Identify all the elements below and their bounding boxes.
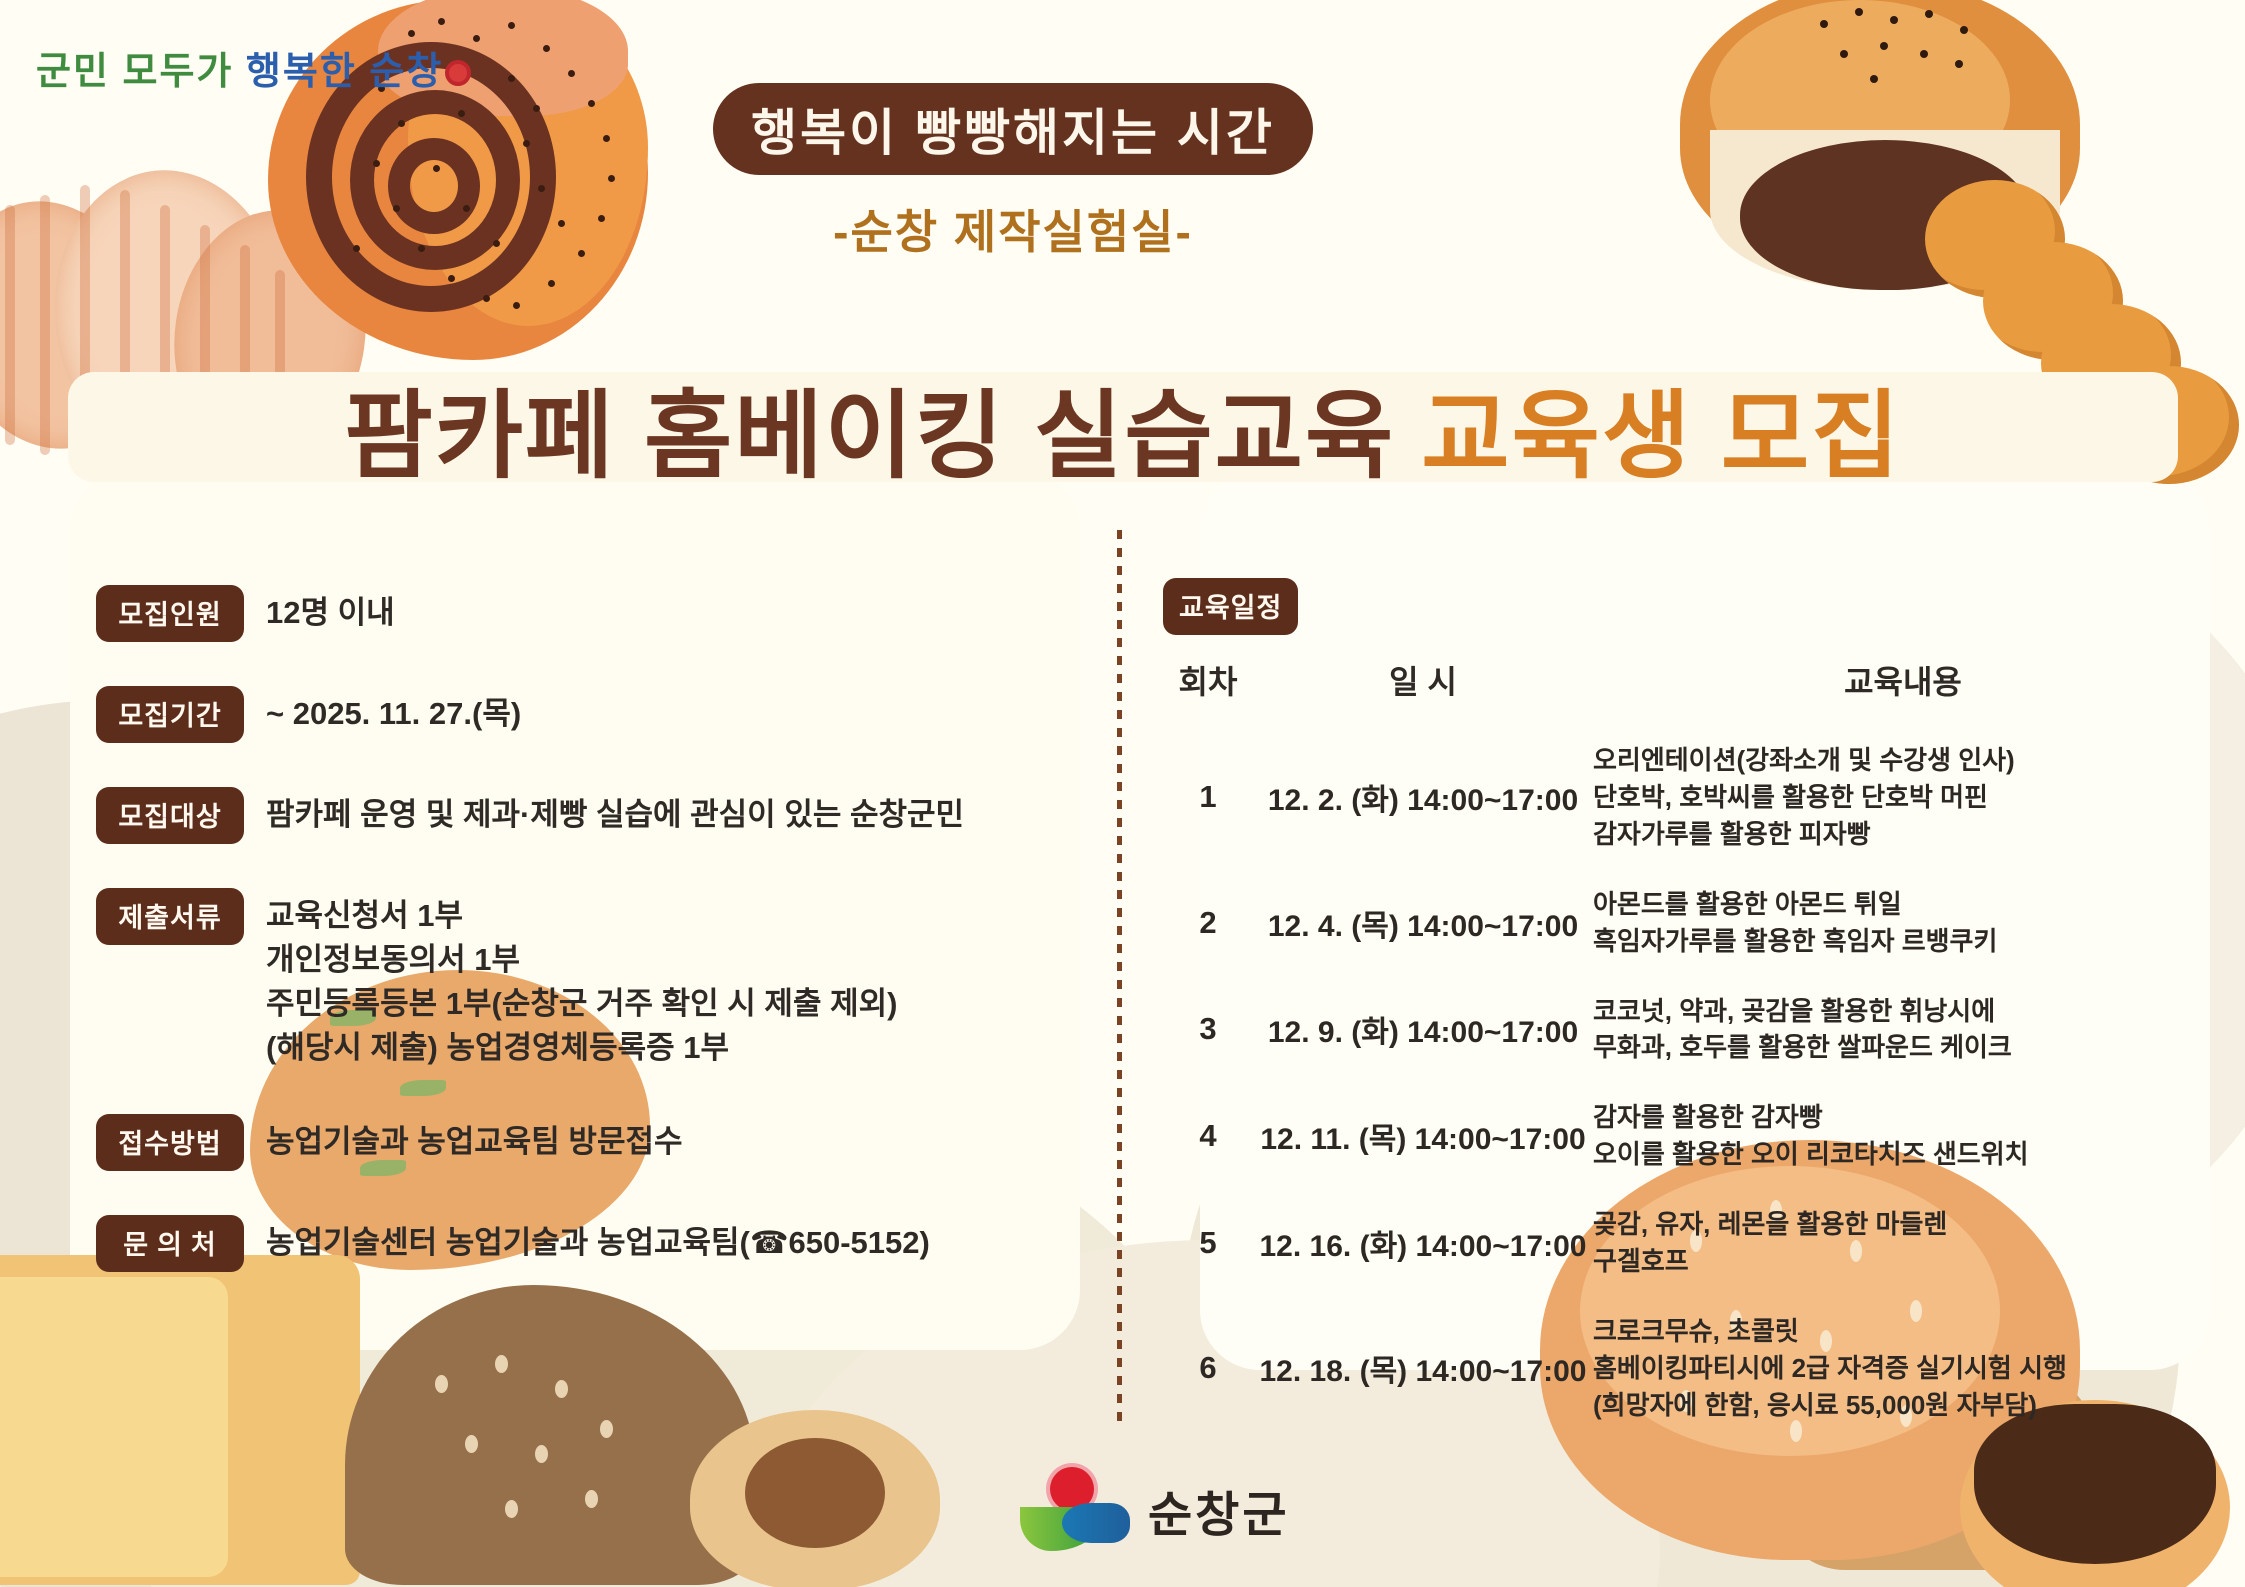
- column-header-session: 회차: [1163, 657, 1253, 729]
- session-content-line: 크로크무슈, 초콜릿: [1593, 1313, 2213, 1350]
- info-row: 모집대상팜카페 운영 및 제과·제빵 실습에 관심이 있는 순창군민: [96, 787, 1116, 844]
- info-row: 모집기간~ 2025. 11. 27.(목): [96, 686, 1116, 743]
- roll-poppyseed-dot: [418, 245, 425, 252]
- main-title-part-2: 교육생 모집: [1421, 358, 1901, 497]
- slogan-text-green: 군민 모두가: [36, 51, 233, 93]
- roll-poppyseed-dot: [463, 205, 470, 212]
- session-content-line: 흑임자가루를 활용한 흑임자 르뱅쿠키: [1593, 923, 2213, 960]
- table-row: 212. 4. (목) 14:00~17:00아몬드를 활용한 아몬드 튀일흑임…: [1163, 873, 2213, 980]
- column-header-datetime: 일 시: [1253, 657, 1593, 729]
- session-content: 코코넛, 약과, 곶감을 활용한 휘낭시에무화과, 호두를 활용한 쌀파운드 케…: [1593, 980, 2213, 1087]
- footer-branding: 순창군: [1020, 1455, 1500, 1565]
- info-value: 12명 이내: [266, 585, 395, 635]
- session-datetime: 12. 9. (화) 14:00~17:00: [1253, 980, 1593, 1087]
- session-number: 3: [1163, 980, 1253, 1087]
- roll-poppyseed-dot: [408, 30, 415, 37]
- roll-poppyseed-dot: [373, 160, 380, 167]
- table-row: 312. 9. (화) 14:00~17:00코코넛, 약과, 곶감을 활용한 …: [1163, 980, 2213, 1087]
- page-title: 팜카페 홈베이킹 실습교육 교육생 모집: [68, 370, 2178, 485]
- roll-poppyseed-dot: [538, 185, 545, 192]
- roll-poppyseed-dot: [608, 175, 615, 182]
- session-content-line: 무화과, 호두를 활용한 쌀파운드 케이크: [1593, 1029, 2213, 1066]
- session-content: 감자를 활용한 감자빵오이를 활용한 오이 리코타치즈 샌드위치: [1593, 1086, 2213, 1193]
- session-content-line: 감자가루를 활용한 피자빵: [1593, 816, 2213, 853]
- roll-poppyseed-dot: [548, 280, 555, 287]
- roll-poppyseed-dot: [543, 45, 550, 52]
- roll-poppyseed-dot: [473, 35, 480, 42]
- subtitle: -순창 제작실험실-: [713, 196, 1313, 262]
- roll-poppyseed-dot: [493, 240, 500, 247]
- session-content-line: 감자를 활용한 감자빵: [1593, 1099, 2213, 1136]
- cream-bun-illustration: [1680, 0, 2100, 310]
- info-row: 모집인원12명 이내: [96, 585, 1116, 642]
- county-slogan: 군민 모두가 행복한 순창: [36, 40, 471, 95]
- info-label: 접수방법: [96, 1114, 244, 1171]
- info-value: 팜카페 운영 및 제과·제빵 실습에 관심이 있는 순창군민: [266, 787, 964, 837]
- info-label: 모집기간: [96, 686, 244, 743]
- session-content-line: 오리엔테이션(강좌소개 및 수강생 인사): [1593, 742, 2213, 779]
- roll-poppyseed-dot: [523, 140, 530, 147]
- bun-seed: [1955, 60, 1963, 68]
- slogan-text-blue: 행복한 순창: [246, 51, 443, 93]
- bun-seed: [1925, 10, 1933, 18]
- schedule-section: 교육일정 회차 일 시 교육내용 112. 2. (화) 14:00~17:00…: [1163, 578, 2213, 1444]
- main-title-part-1: 팜카페 홈베이킹 실습교육: [344, 358, 1395, 497]
- session-content: 크로크무슈, 초콜릿홈베이킹파티시에 2급 자격증 실기시험 시행(희망자에 한…: [1593, 1300, 2213, 1444]
- session-content: 곶감, 유자, 레몬을 활용한 마들렌구겔호프: [1593, 1193, 2213, 1300]
- bun-seed: [1890, 16, 1898, 24]
- roll-poppyseed-dot: [353, 245, 360, 252]
- roll-poppyseed-dot: [393, 205, 400, 212]
- bun-seed: [1960, 26, 1968, 34]
- schedule-header-row: 회차 일 시 교육내용: [1163, 657, 2213, 729]
- roll-poppyseed-dot: [433, 165, 440, 172]
- roll-poppyseed-dot: [578, 250, 585, 257]
- schedule-table: 회차 일 시 교육내용 112. 2. (화) 14:00~17:00오리엔테이…: [1163, 657, 2213, 1444]
- session-content-line: 오이를 활용한 오이 리코타치즈 샌드위치: [1593, 1136, 2213, 1173]
- session-content-line: 구겔호프: [1593, 1243, 2213, 1280]
- session-content: 오리엔테이션(강좌소개 및 수강생 인사)단호박, 호박씨를 활용한 단호박 머…: [1593, 729, 2213, 873]
- croissant-stripe: [40, 195, 50, 455]
- session-datetime: 12. 2. (화) 14:00~17:00: [1253, 729, 1593, 873]
- roll-poppyseed-dot: [513, 302, 520, 309]
- session-datetime: 12. 11. (목) 14:00~17:00: [1253, 1086, 1593, 1193]
- bun-seed: [1840, 50, 1848, 58]
- table-row: 612. 18. (목) 14:00~17:00크로크무슈, 초콜릿홈베이킹파티…: [1163, 1300, 2213, 1444]
- roll-poppyseed-dot: [558, 220, 565, 227]
- recruitment-info-list: 모집인원12명 이내모집기간~ 2025. 11. 27.(목)모집대상팜카페 …: [96, 585, 1116, 1316]
- roll-poppyseed-dot: [458, 110, 465, 117]
- column-header-content: 교육내용: [1593, 657, 2213, 729]
- schedule-table-head: 회차 일 시 교육내용: [1163, 657, 2213, 729]
- pill-title-text: 행복이 빵빵해지는 시간: [751, 93, 1275, 165]
- roll-poppyseed-dot: [508, 75, 515, 82]
- info-value: 농업기술과 농업교육팀 방문접수: [266, 1114, 683, 1164]
- bun-seed: [1855, 8, 1863, 16]
- info-label: 모집인원: [96, 585, 244, 642]
- organization-name: 순창군: [1148, 1475, 1289, 1545]
- info-value: 교육신청서 1부 개인정보동의서 1부 주민등록등본 1부(순창군 거주 확인 …: [266, 888, 897, 1070]
- bun-seed: [1880, 42, 1888, 50]
- session-content-line: 홈베이킹파티시에 2급 자격증 실기시험 시행: [1593, 1350, 2213, 1387]
- session-datetime: 12. 4. (목) 14:00~17:00: [1253, 873, 1593, 980]
- table-row: 412. 11. (목) 14:00~17:00감자를 활용한 감자빵오이를 활…: [1163, 1086, 2213, 1193]
- info-row: 접수방법농업기술과 농업교육팀 방문접수: [96, 1114, 1116, 1171]
- sunchang-logo-icon: [1020, 1467, 1132, 1553]
- knot-bun-illustration: [690, 1410, 950, 1587]
- info-row: 문의처농업기술센터 농업기술과 농업교육팀(☎650-5152): [96, 1215, 1116, 1272]
- roll-poppyseed-dot: [483, 295, 490, 302]
- roll-poppyseed-dot: [568, 70, 575, 77]
- schedule-tag: 교육일정: [1163, 578, 1298, 635]
- session-content: 아몬드를 활용한 아몬드 튀일흑임자가루를 활용한 흑임자 르뱅쿠키: [1593, 873, 2213, 980]
- poster-canvas: 군민 모두가 행복한 순창 행복이 빵빵해지는 시간 -순창 제작실험실- 팜카…: [0, 0, 2245, 1587]
- bun-seed: [1820, 20, 1828, 28]
- session-datetime: 12. 16. (화) 14:00~17:00: [1253, 1193, 1593, 1300]
- session-content-line: 코코넛, 약과, 곶감을 활용한 휘낭시에: [1593, 993, 2213, 1030]
- info-label: 문의처: [96, 1215, 244, 1272]
- pill-title-banner: 행복이 빵빵해지는 시간: [713, 83, 1313, 175]
- session-number: 6: [1163, 1300, 1253, 1444]
- session-content-line: 곶감, 유자, 레몬을 활용한 마들렌: [1593, 1206, 2213, 1243]
- vertical-dotted-divider: [1117, 530, 1122, 1430]
- roll-poppyseed-dot: [588, 100, 595, 107]
- bun-seed: [1870, 75, 1878, 83]
- table-row: 112. 2. (화) 14:00~17:00오리엔테이션(강좌소개 및 수강생…: [1163, 729, 2213, 873]
- info-label: 제출서류: [96, 888, 244, 945]
- info-row: 제출서류교육신청서 1부 개인정보동의서 1부 주민등록등본 1부(순창군 거주…: [96, 888, 1116, 1070]
- croissant-stripe: [5, 205, 15, 445]
- info-value: ~ 2025. 11. 27.(목): [266, 686, 521, 736]
- session-datetime: 12. 18. (목) 14:00~17:00: [1253, 1300, 1593, 1444]
- table-row: 512. 16. (화) 14:00~17:00곶감, 유자, 레몬을 활용한 …: [1163, 1193, 2213, 1300]
- county-emblem-icon: [445, 60, 471, 86]
- session-number: 1: [1163, 729, 1253, 873]
- bun-seed: [1920, 50, 1928, 58]
- session-content-line: 아몬드를 활용한 아몬드 튀일: [1593, 886, 2213, 923]
- session-content-line: 단호박, 호박씨를 활용한 단호박 머핀: [1593, 779, 2213, 816]
- roll-poppyseed-dot: [448, 275, 455, 282]
- info-value: 농업기술센터 농업기술과 농업교육팀(☎650-5152): [266, 1215, 930, 1265]
- roll-poppyseed-dot: [438, 18, 445, 25]
- roll-poppyseed-dot: [508, 22, 515, 29]
- info-label: 모집대상: [96, 787, 244, 844]
- roll-poppyseed-dot: [398, 120, 405, 127]
- roll-poppyseed-dot: [533, 105, 540, 112]
- session-content-line: (희망자에 한함, 응시료 55,000원 자부담): [1593, 1387, 2213, 1424]
- session-number: 4: [1163, 1086, 1253, 1193]
- schedule-table-body: 112. 2. (화) 14:00~17:00오리엔테이션(강좌소개 및 수강생…: [1163, 729, 2213, 1444]
- roll-poppyseed-dot: [598, 215, 605, 222]
- logo-blue-wave-icon: [1062, 1503, 1130, 1543]
- roll-poppyseed-dot: [603, 135, 610, 142]
- seeded-bread-illustration: [345, 1285, 765, 1587]
- session-number: 2: [1163, 873, 1253, 980]
- session-number: 5: [1163, 1193, 1253, 1300]
